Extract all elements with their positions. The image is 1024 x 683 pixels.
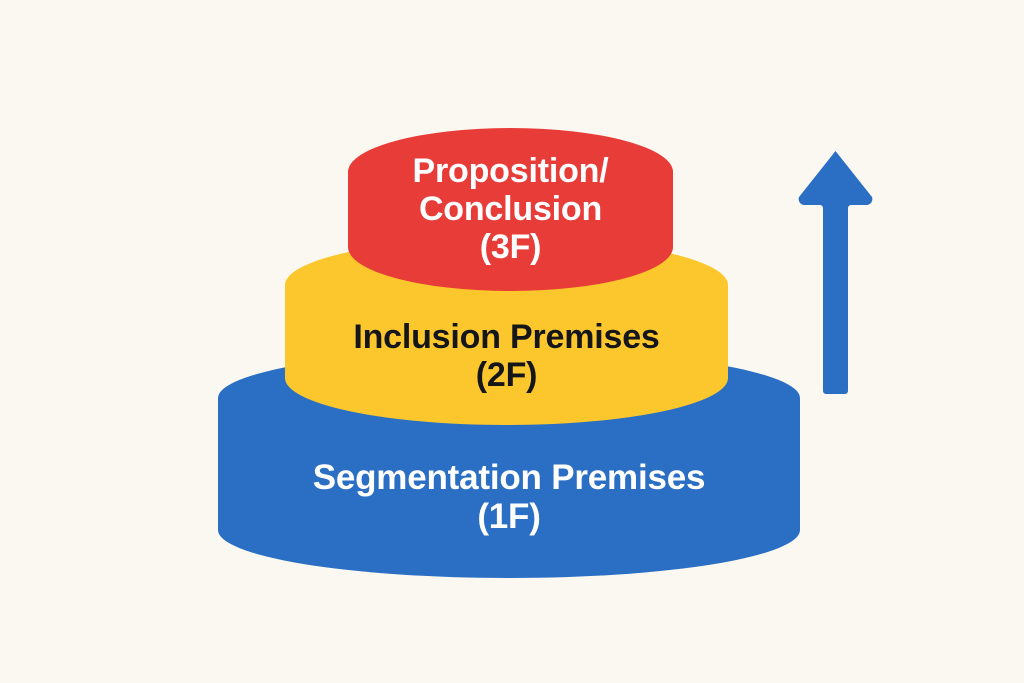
tier-3-label: Proposition/ Conclusion (3F): [348, 152, 673, 266]
diagram-canvas: Proposition/ Conclusion (3F) Inclusion P…: [0, 0, 1024, 683]
tier-2-label: Inclusion Premises (2F): [285, 318, 728, 394]
up-arrow-shape: [799, 151, 873, 394]
tier-1-label: Segmentation Premises (1F): [218, 458, 800, 536]
up-arrow-icon[interactable]: [799, 151, 873, 394]
